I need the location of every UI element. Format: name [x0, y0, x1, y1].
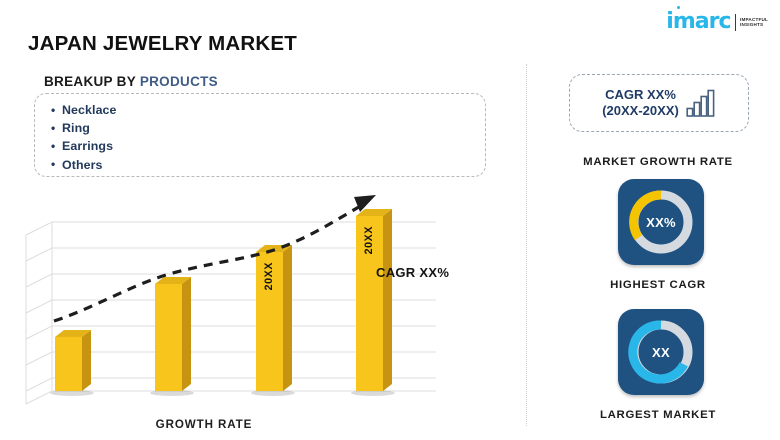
cagr-annotation-label: CAGR XX% — [376, 265, 449, 280]
bar-label-3: 20XX — [263, 262, 275, 290]
logo-tagline-line2: INSIGHTS — [740, 22, 768, 27]
vertical-divider — [526, 64, 527, 426]
products-list: Necklace Ring Earrings Others — [35, 94, 485, 174]
donut-center-label-largest: XX — [618, 309, 704, 395]
bar-2 — [155, 277, 191, 391]
highest-cagr-tile: XX% — [618, 179, 704, 265]
breakup-heading-prefix: BREAKUP BY — [44, 74, 140, 89]
chart-x-axis-label: GROWTH RATE — [24, 418, 384, 431]
bar-1 — [55, 330, 91, 391]
breakup-heading-highlight: PRODUCTS — [140, 74, 218, 89]
cagr-line1: CAGR XX% — [602, 87, 679, 103]
caption-market-growth-rate: MARKET GROWTH RATE — [540, 156, 776, 168]
growth-rate-chart: 20XX 20XX CAGR XX% GROWTH RATE — [24, 190, 494, 440]
top-strip — [0, 0, 780, 8]
bar-label-4: 20XX — [363, 226, 375, 254]
market-growth-rate-box: CAGR XX% (20XX-20XX) — [569, 74, 749, 132]
largest-market-tile: XX — [618, 309, 704, 395]
left-panel: BREAKUP BY PRODUCTS Necklace Ring Earrin… — [0, 60, 520, 440]
logo-tagline: IMPACTFUL INSIGHTS — [740, 17, 768, 28]
donut-center-label-highest: XX% — [618, 179, 704, 265]
bar-chart-icon — [686, 88, 716, 118]
products-box: Necklace Ring Earrings Others — [34, 93, 486, 177]
caption-largest-market: LARGEST MARKET — [540, 409, 776, 421]
cagr-line2: (20XX-20XX) — [602, 103, 679, 119]
page-title: JAPAN JEWELRY MARKET — [28, 32, 297, 56]
cagr-value-text: CAGR XX% (20XX-20XX) — [602, 87, 679, 119]
list-item: Earrings — [51, 137, 485, 155]
trend-line — [54, 195, 376, 321]
list-item: Others — [51, 156, 485, 174]
logo-divider — [735, 14, 737, 31]
chart-canvas — [24, 190, 494, 440]
breakup-heading: BREAKUP BY PRODUCTS — [44, 74, 218, 89]
right-panel: CAGR XX% (20XX-20XX) MARKET GROWTH RATE … — [540, 64, 776, 434]
imarc-logo: imarc IMPACTFUL INSIGHTS — [666, 8, 768, 36]
caption-highest-cagr: HIGHEST CAGR — [540, 279, 776, 291]
list-item: Ring — [51, 119, 485, 137]
logo-word-text: imarc — [666, 9, 730, 34]
logo-wordmark: imarc — [666, 11, 730, 33]
list-item: Necklace — [51, 101, 485, 119]
